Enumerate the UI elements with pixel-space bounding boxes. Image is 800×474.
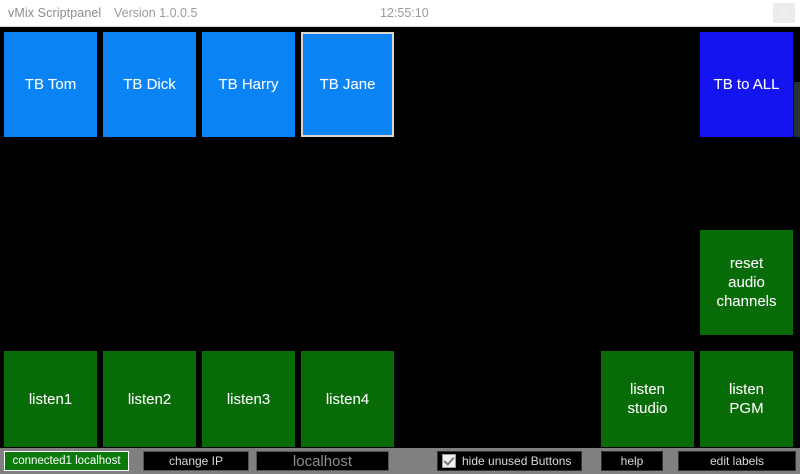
close-icon[interactable]: ✕ <box>773 3 795 23</box>
title-bar: vMix Scriptpanel Version 1.0.0.5 12:55:1… <box>0 0 800 27</box>
connection-status-label: connected1 localhost <box>12 455 120 467</box>
button-label: TB Dick <box>123 75 176 94</box>
scrollbar-thumb[interactable] <box>794 82 800 137</box>
listen-button-listen4[interactable]: listen4 <box>301 351 394 447</box>
edit-labels-button[interactable]: edit labels <box>678 451 796 471</box>
button-label: resetaudiochannels <box>716 254 776 311</box>
app-title: vMix Scriptpanel <box>8 6 101 20</box>
change-ip-button[interactable]: change IP <box>143 451 249 471</box>
host-input[interactable]: localhost <box>256 451 389 471</box>
listen-button-listen2[interactable]: listen2 <box>103 351 196 447</box>
talkback-button-tb-harry[interactable]: TB Harry <box>202 32 295 137</box>
edit-labels-label: edit labels <box>710 454 764 468</box>
host-value: localhost <box>293 453 352 470</box>
button-label: listen1 <box>29 390 72 409</box>
checkmark-icon <box>442 454 456 468</box>
listen-button-listen1[interactable]: listen1 <box>4 351 97 447</box>
talkback-button-tb-to-all[interactable]: TB to ALL <box>700 32 793 137</box>
utility-button-reset-audio-channels[interactable]: resetaudiochannels <box>700 230 793 335</box>
button-label: listenstudio <box>627 380 667 418</box>
button-label: TB Harry <box>219 75 279 94</box>
listen-button-listen-studio[interactable]: listenstudio <box>601 351 694 447</box>
listen-button-listen3[interactable]: listen3 <box>202 351 295 447</box>
change-ip-label: change IP <box>169 454 223 468</box>
talkback-button-tb-jane[interactable]: TB Jane <box>301 32 394 137</box>
button-label: TB Jane <box>320 75 376 94</box>
button-panel: TB TomTB DickTB HarryTB JaneTB to ALLres… <box>0 27 800 448</box>
button-label: listen4 <box>326 390 369 409</box>
talkback-button-tb-dick[interactable]: TB Dick <box>103 32 196 137</box>
listen-button-listen-pgm[interactable]: listenPGM <box>700 351 793 447</box>
button-label: TB to ALL <box>714 75 780 94</box>
app-version: Version 1.0.0.5 <box>114 6 197 20</box>
connection-status-badge: connected1 localhost <box>4 451 129 471</box>
app-window: vMix Scriptpanel Version 1.0.0.5 12:55:1… <box>0 0 800 474</box>
button-label: TB Tom <box>25 75 76 94</box>
hide-unused-buttons-label: hide unused Buttons <box>462 454 571 468</box>
status-bar: connected1 localhost change IP localhost… <box>0 448 800 474</box>
hide-unused-buttons-checkbox[interactable]: hide unused Buttons <box>437 451 582 471</box>
button-label: listen3 <box>227 390 270 409</box>
panel-scrollbar[interactable] <box>794 27 800 448</box>
clock-display: 12:55:10 <box>380 6 429 20</box>
button-label: listen2 <box>128 390 171 409</box>
talkback-button-tb-tom[interactable]: TB Tom <box>4 32 97 137</box>
button-label: listenPGM <box>729 380 764 418</box>
help-button[interactable]: help <box>601 451 663 471</box>
help-label: help <box>621 454 644 468</box>
